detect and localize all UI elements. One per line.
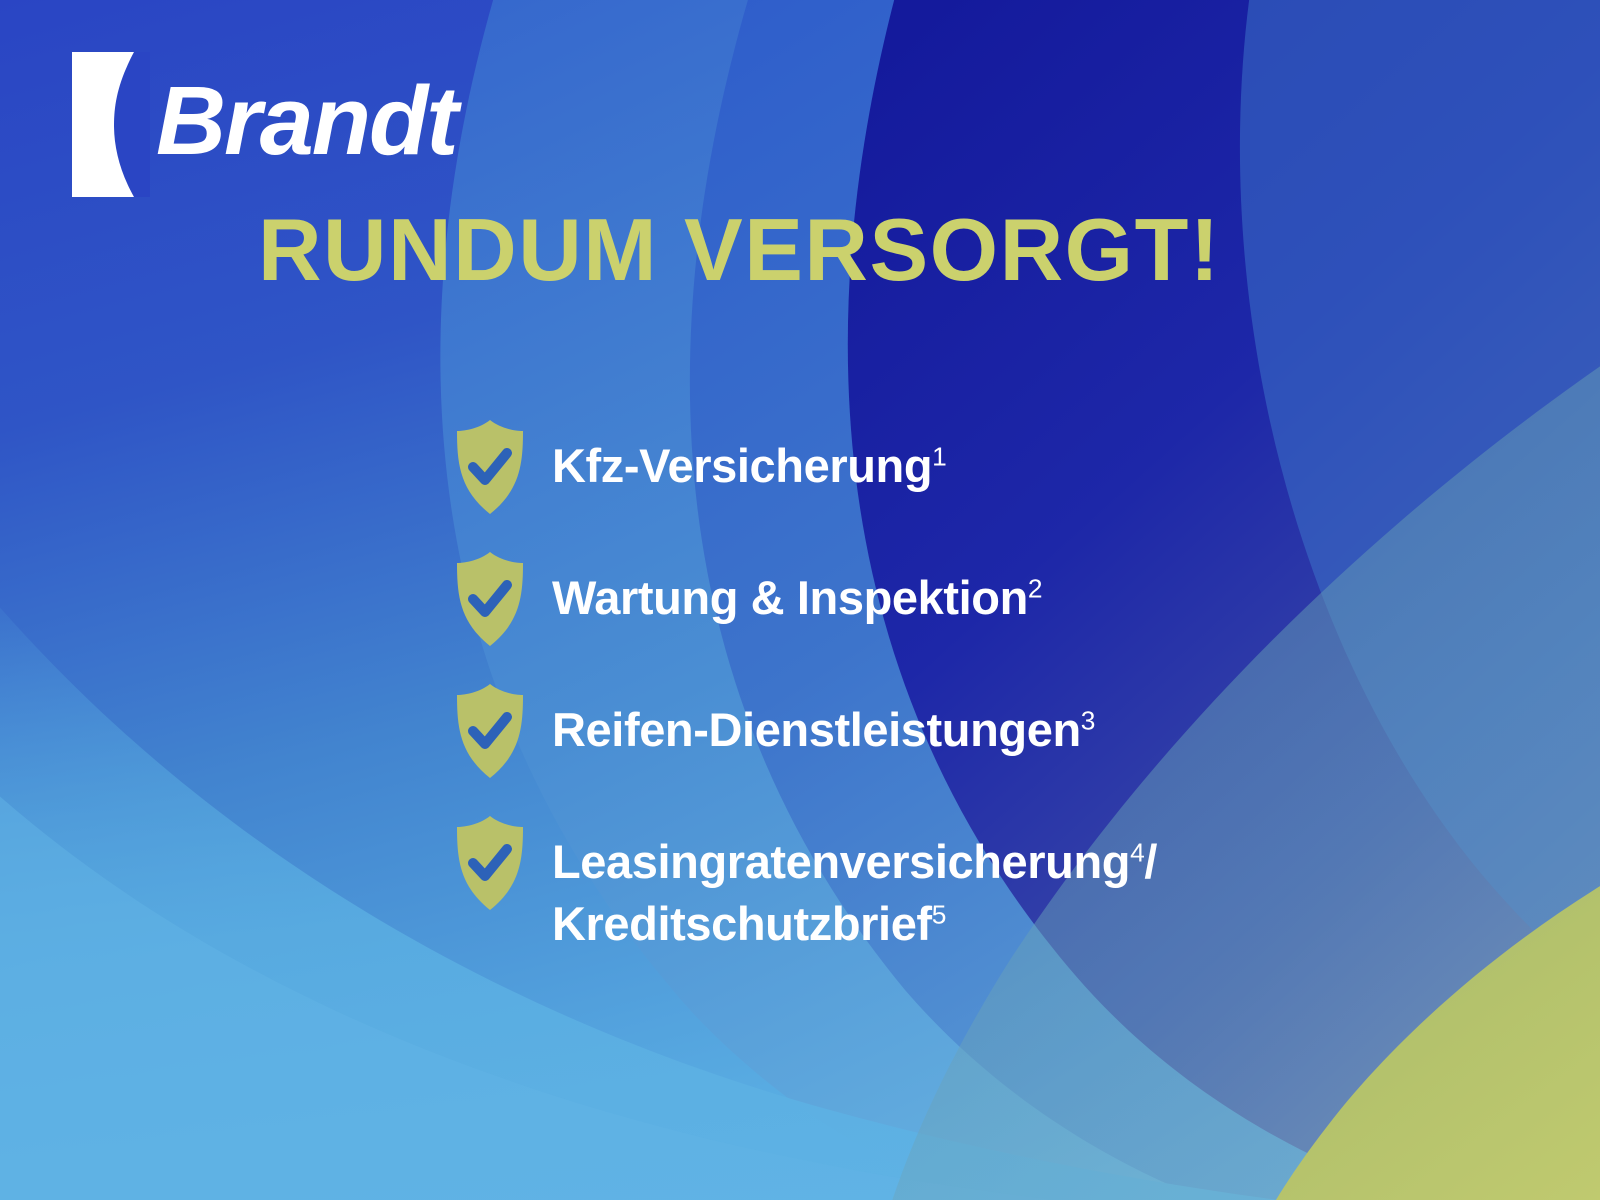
feature-label-text-secondary: Kreditschutzbrief	[552, 897, 932, 950]
shield-check-icon	[452, 814, 528, 912]
feature-label: Kfz-Versicherung1	[552, 418, 946, 497]
brand-logo[interactable]: Brandt	[72, 52, 457, 197]
shield-check-icon	[452, 550, 528, 648]
feature-label-separator: /	[1144, 835, 1157, 888]
list-item: Wartung & Inspektion2	[452, 550, 1502, 648]
shield-check-icon	[452, 418, 528, 516]
page-title: RUNDUM VERSORGT!	[258, 206, 1221, 294]
feature-label: Wartung & Inspektion2	[552, 550, 1042, 629]
shield-check-icon	[452, 682, 528, 780]
feature-label-text: Kfz-Versicherung	[552, 439, 932, 492]
feature-label-text: Reifen-Dienstleistungen	[552, 703, 1081, 756]
footnote-marker-secondary: 5	[932, 899, 946, 929]
feature-label: Reifen-Dienstleistungen3	[552, 682, 1095, 761]
list-item: Kfz-Versicherung1	[452, 418, 1502, 516]
footnote-marker: 3	[1081, 705, 1095, 735]
footnote-marker: 4	[1130, 837, 1144, 867]
list-item: Reifen-Dienstleistungen3	[452, 682, 1502, 780]
brandt-bracket-mark-icon	[72, 52, 150, 197]
feature-label-text: Leasingratenversicherung	[552, 835, 1130, 888]
brand-name: Brandt	[156, 72, 457, 169]
feature-label: Leasingratenversicherung4/ Kreditschutzb…	[552, 814, 1502, 955]
feature-label-text: Wartung & Inspektion	[552, 571, 1028, 624]
feature-list: Kfz-Versicherung1 Wartung & Inspektion2	[452, 418, 1502, 955]
footnote-marker: 1	[932, 441, 946, 471]
poster-canvas: Brandt RUNDUM VERSORGT! Kfz-Versicherung…	[0, 0, 1600, 1200]
footnote-marker: 2	[1028, 573, 1042, 603]
list-item: Leasingratenversicherung4/ Kreditschutzb…	[452, 814, 1502, 955]
